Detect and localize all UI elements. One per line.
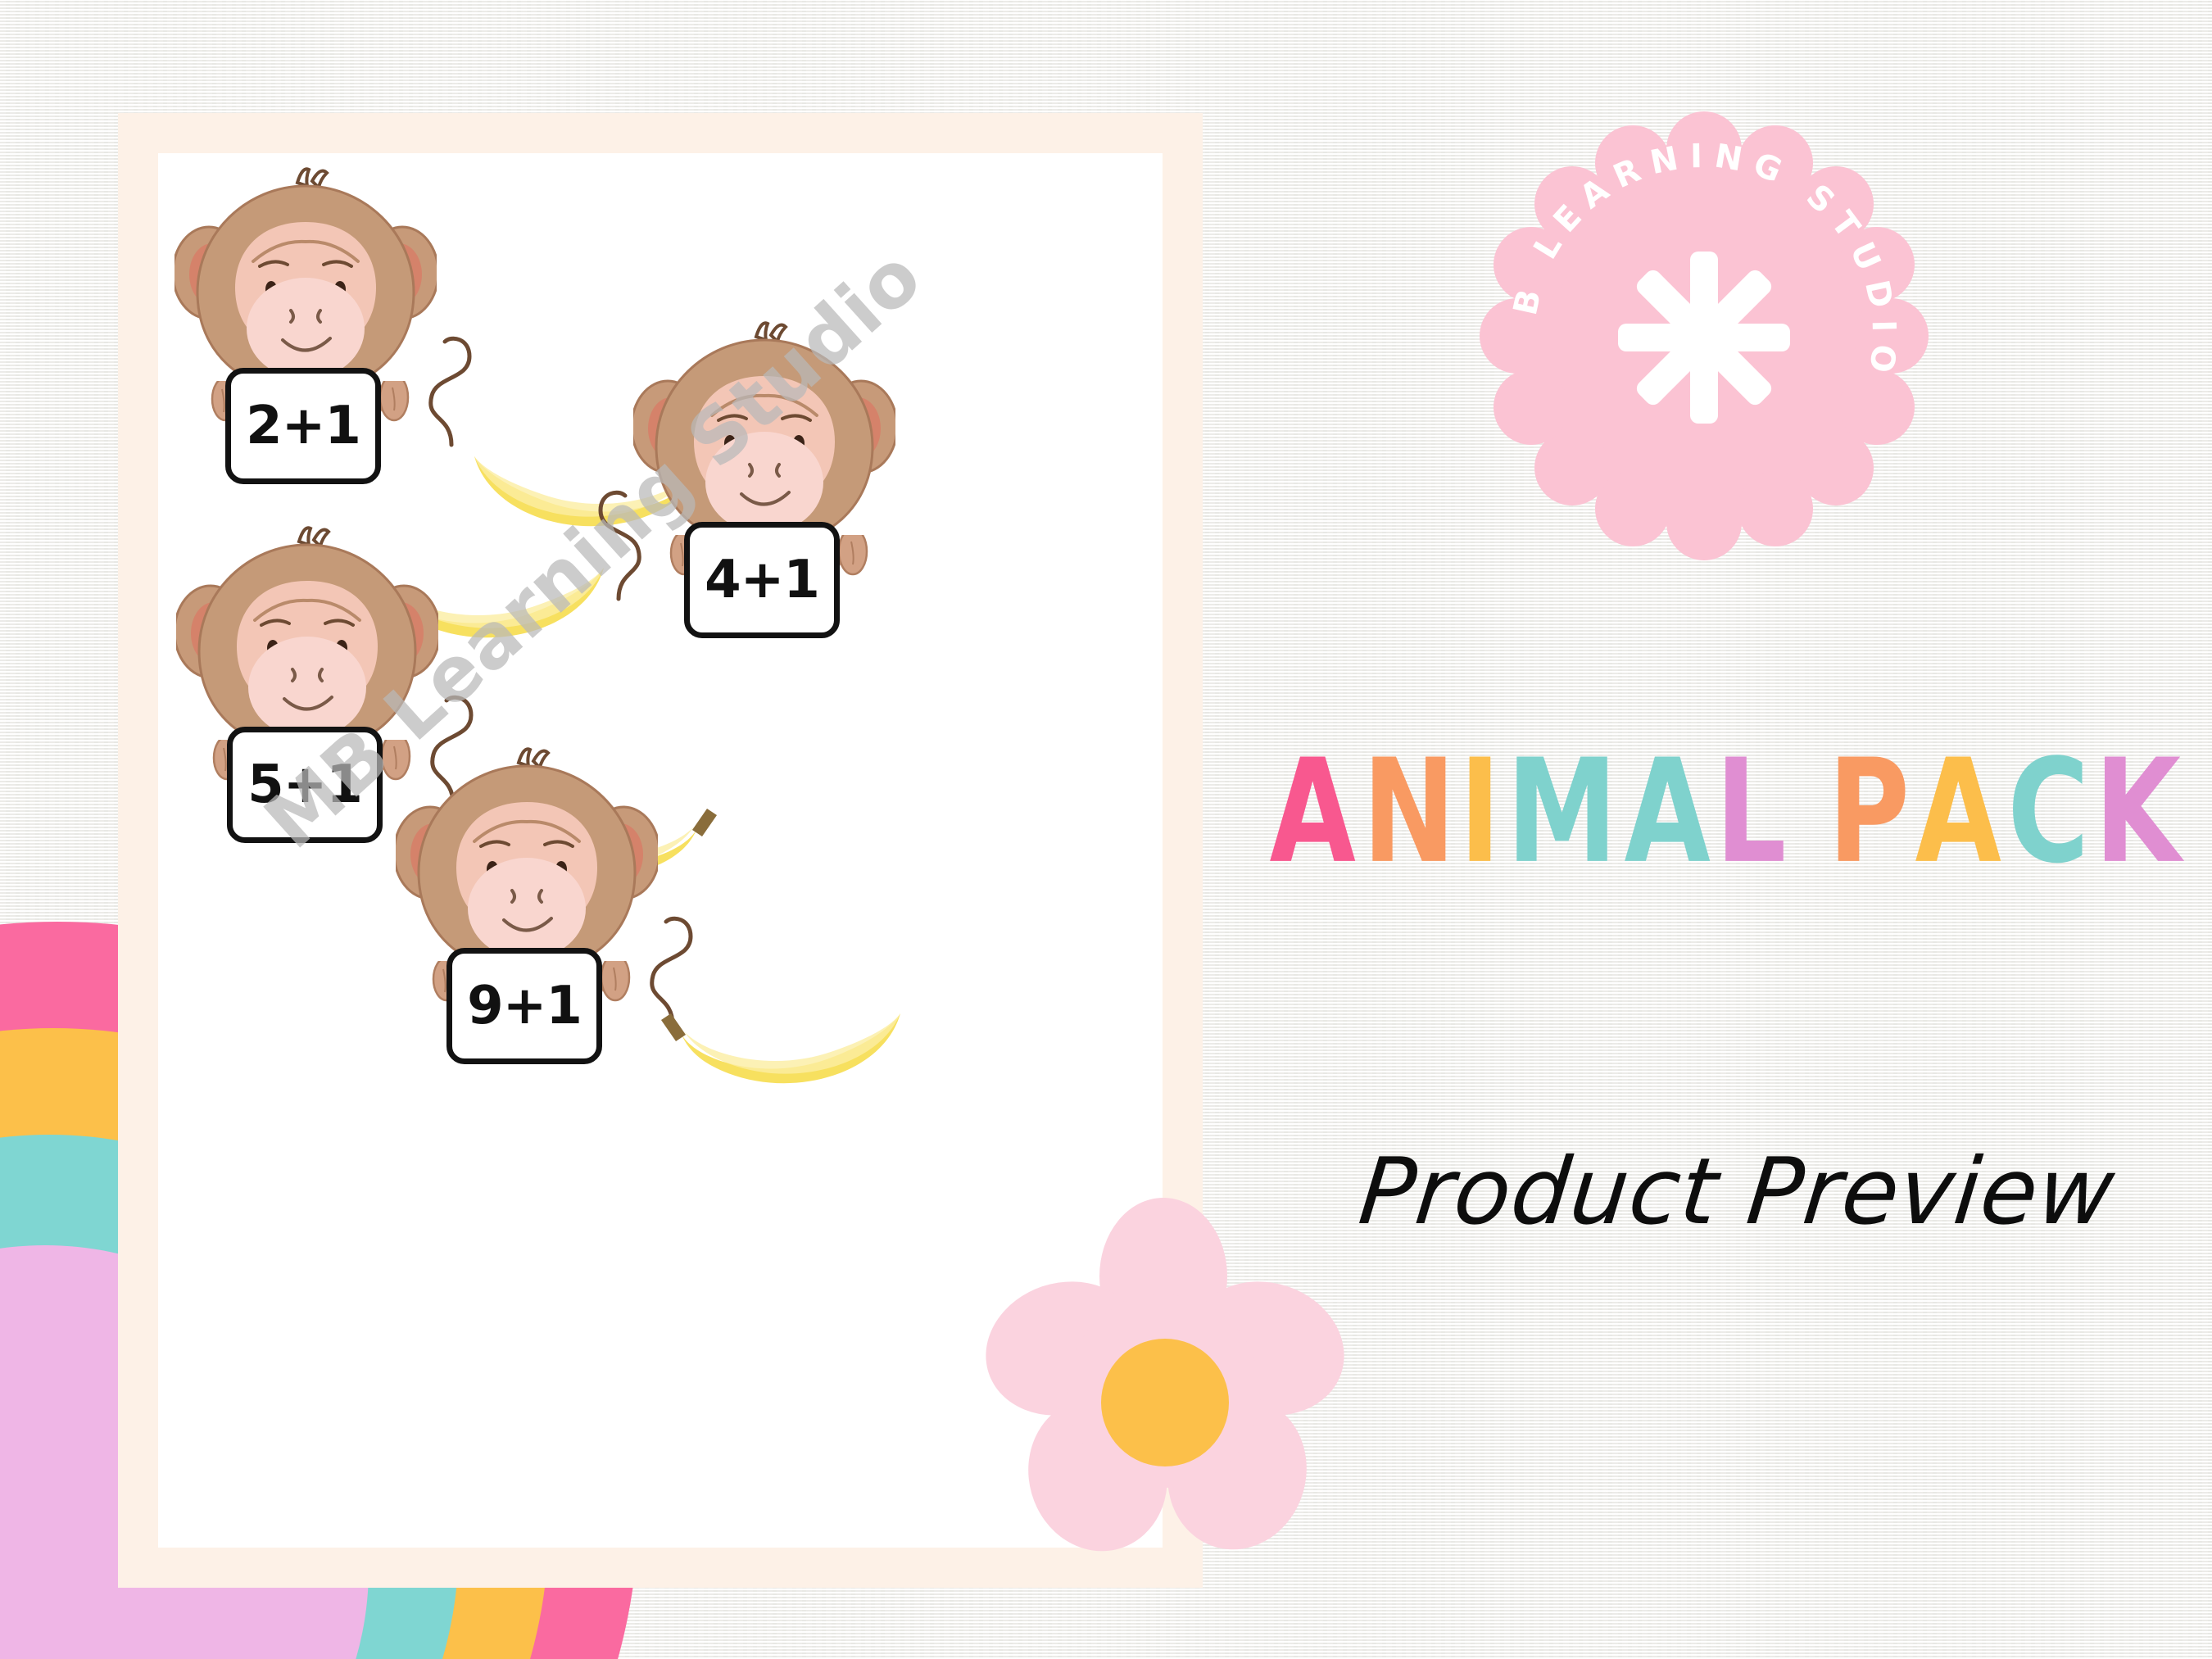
title-letter: C xyxy=(2007,740,2087,883)
banana-icon xyxy=(650,981,912,1120)
flower-center xyxy=(1101,1339,1229,1466)
title-letter: N xyxy=(1362,740,1453,883)
math-card[interactable]: 4+1 xyxy=(684,522,840,638)
flower-decoration xyxy=(967,1188,1360,1581)
title-letter: A xyxy=(1624,740,1709,883)
brand-badge[interactable]: MB LEARNING STUDIO xyxy=(1466,98,1942,573)
math-card[interactable]: 5+1 xyxy=(227,727,383,843)
title-letter: P xyxy=(1828,740,1908,883)
math-card[interactable]: 9+1 xyxy=(446,948,602,1064)
asterisk-icon xyxy=(1618,252,1790,424)
math-card-label: 9+1 xyxy=(467,976,582,1036)
page-title: ANIMALPACK xyxy=(1266,752,2183,883)
title-letter: I xyxy=(1460,740,1500,883)
subtitle: Product Preview xyxy=(1354,1139,2119,1245)
preview-canvas: 2+1 4+1 xyxy=(0,0,2212,1659)
math-card-label: 2+1 xyxy=(246,396,360,456)
title-letter: A xyxy=(1915,740,2001,883)
math-card-label: 5+1 xyxy=(247,755,362,815)
math-card-label: 4+1 xyxy=(705,550,819,610)
title-letter: M xyxy=(1506,740,1616,883)
math-card[interactable]: 2+1 xyxy=(225,368,381,484)
title-letter: L xyxy=(1716,740,1785,883)
title-letter: A xyxy=(1270,740,1355,883)
title-letter: K xyxy=(2095,740,2180,883)
